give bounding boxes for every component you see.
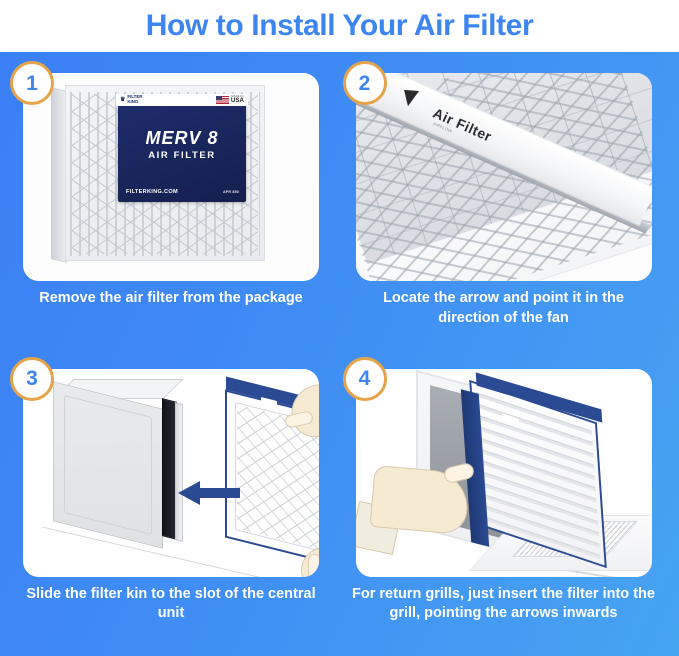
- step-4: 4 For return grills, just insert the fil…: [343, 357, 670, 653]
- step-4-number: 4: [359, 368, 371, 389]
- step-3: 3 Slide the filter kin to the slot of th…: [10, 357, 337, 653]
- step-2: Air Filter AIRFLOW 2 Locate the arrow an…: [343, 61, 670, 357]
- step-1-number: 1: [26, 73, 38, 94]
- step-4-caption: For return grills, just insert the filte…: [343, 585, 665, 624]
- airflow-arrow-icon: [402, 90, 418, 107]
- step-2-badge: 2: [343, 61, 387, 105]
- step-3-number: 3: [26, 368, 38, 389]
- step-1-image: MERV 8 AIR FILTER FILTERKING.COM APR 850…: [23, 73, 319, 281]
- merv-rating-text: MERV 8: [118, 128, 246, 149]
- filter-king-logo: ♛ FILTER KING: [120, 95, 142, 104]
- step-2-caption: Locate the arrow and point it in the dir…: [343, 289, 665, 328]
- step-2-image: Air Filter AIRFLOW: [356, 73, 652, 281]
- apr-code-text: APR 850: [223, 190, 239, 194]
- product-label: MERV 8 AIR FILTER FILTERKING.COM APR 850: [118, 104, 246, 202]
- infographic-root: How to Install Your Air Filter MERV 8 AI…: [0, 0, 679, 656]
- step-3-card: [23, 369, 319, 577]
- step-4-card: [356, 369, 652, 577]
- step-2-number: 2: [359, 73, 371, 94]
- filter-front-face: MERV 8 AIR FILTER FILTERKING.COM APR 850…: [65, 85, 265, 261]
- step-1-caption: Remove the air filter from the package: [10, 289, 332, 309]
- step-3-image: [23, 369, 319, 577]
- website-text: FILTERKING.COM: [126, 189, 178, 195]
- header: How to Install Your Air Filter: [0, 0, 679, 52]
- brand-name: FILTER KING: [127, 95, 142, 104]
- step-4-image: [356, 369, 652, 577]
- insert-direction-arrow-icon: [178, 481, 240, 505]
- step-2-card: Air Filter AIRFLOW: [356, 73, 652, 281]
- made-in-usa-mark: MADE IN USA: [216, 96, 244, 105]
- step-1: MERV 8 AIR FILTER FILTERKING.COM APR 850…: [10, 61, 337, 357]
- step-4-badge: 4: [343, 357, 387, 401]
- product-name-text: AIR FILTER: [118, 150, 246, 161]
- step-3-caption: Slide the filter kin to the slot of the …: [10, 585, 332, 624]
- page-title: How to Install Your Air Filter: [146, 11, 533, 41]
- step-1-badge: 1: [10, 61, 54, 105]
- country-text: USA: [231, 98, 244, 104]
- step-1-card: MERV 8 AIR FILTER FILTERKING.COM APR 850…: [23, 73, 319, 281]
- hvac-unit-face: [53, 381, 163, 548]
- label-footer: FILTERKING.COM APR 850: [126, 189, 239, 195]
- steps-grid: MERV 8 AIR FILTER FILTERKING.COM APR 850…: [0, 52, 679, 656]
- us-flag-icon: [216, 96, 229, 104]
- crown-icon: ♛: [120, 97, 125, 103]
- label-header-strip: ♛ FILTER KING MADE IN USA: [116, 94, 248, 106]
- step-3-badge: 3: [10, 357, 54, 401]
- filter-slot-lip: [175, 402, 183, 542]
